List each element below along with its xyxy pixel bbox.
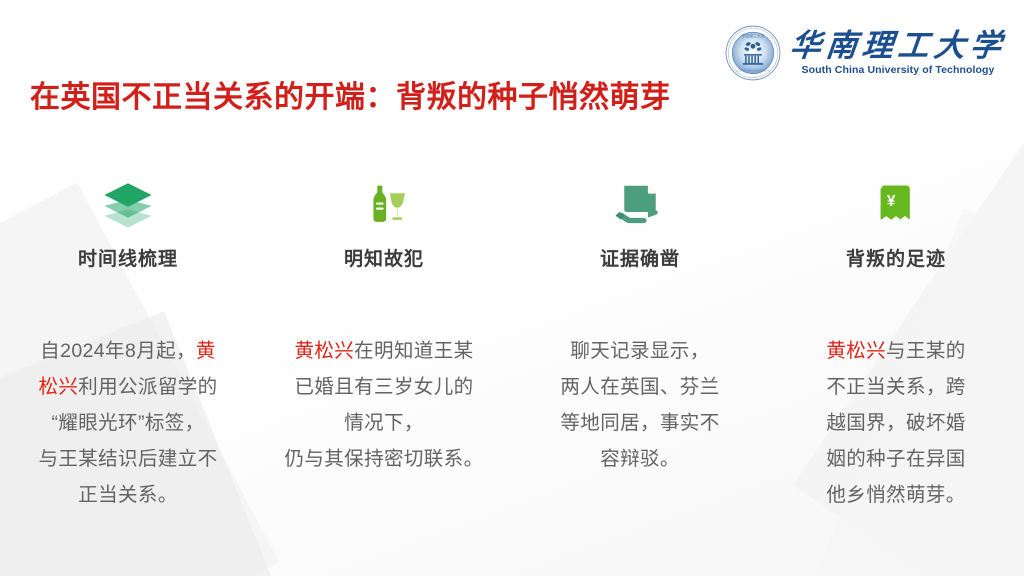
column-betrayal-trace: ¥ 背叛的足迹 黄松兴与王某的不正当关系，跨越国界，破坏婚姻的种子在异国他乡悄然…	[768, 172, 1024, 513]
body-text-run: 自2024年8月起，	[40, 340, 196, 362]
svg-text:SOUTH CHINA UNIV OF TECH: SOUTH CHINA UNIV OF TECH	[736, 69, 769, 72]
body-text-run: “耀眼光环”标签，	[51, 412, 204, 434]
body-line: 不正当关系，跨	[789, 369, 1004, 405]
yuan-receipt-icon: ¥	[870, 172, 922, 238]
body-line: “耀眼光环”标签，	[21, 405, 236, 441]
body-text-run: 利用公派留学的	[78, 376, 217, 398]
body-line: 等地同居，事实不	[533, 405, 748, 441]
university-name-chinese: 华南理工大学	[788, 30, 1007, 63]
content-columns: 时间线梳理 自2024年8月起，黄松兴利用公派留学的“耀眼光环”标签，与王某结识…	[0, 172, 1024, 513]
column-heading: 背叛的足迹	[846, 244, 946, 271]
svg-text:¥: ¥	[887, 193, 896, 210]
body-text-run: 聊天记录显示，	[570, 340, 709, 362]
body-line: 松兴利用公派留学的	[21, 369, 236, 405]
column-heading: 明知故犯	[344, 244, 424, 271]
column-body-text: 黄松兴在明知道王某已婚且有三岁女儿的情况下，仍与其保持密切联系。	[277, 333, 492, 477]
body-text-run: 情况下，	[344, 412, 424, 434]
hand-holding-document-icon	[612, 172, 668, 238]
body-line: 自2024年8月起，黄	[21, 333, 236, 369]
body-line: 仍与其保持密切联系。	[277, 441, 492, 477]
body-text-run: 两人在英国、芬兰	[560, 376, 719, 398]
body-line: 两人在英国、芬兰	[533, 369, 748, 405]
highlighted-name: 黄松兴	[826, 340, 886, 362]
body-text-run: 他乡悄然萌芽。	[826, 484, 965, 506]
scut-university-seal-icon: 华南理工大学 SOUTH CHINA UNIV OF TECH	[725, 25, 781, 81]
body-line: 聊天记录显示，	[533, 333, 748, 369]
body-text-run: 不正当关系，跨	[826, 376, 965, 398]
slide-canvas: 在英国不正当关系的开端：背叛的种子悄然萌芽	[0, 0, 1024, 576]
slide-title: 在英国不正当关系的开端：背叛的种子悄然萌芽	[30, 80, 671, 116]
wine-bottle-and-glass-icon	[357, 172, 411, 238]
body-text-run: 已婚且有三岁女儿的	[294, 376, 473, 398]
body-line: 容辩驳。	[533, 441, 748, 477]
body-text-run: 仍与其保持密切联系。	[284, 448, 483, 470]
body-line: 黄松兴与王某的	[789, 333, 1004, 369]
body-line: 正当关系。	[21, 477, 236, 513]
body-line: 黄松兴在明知道王某	[277, 333, 492, 369]
svg-text:华南理工大学: 华南理工大学	[741, 33, 765, 38]
highlighted-name: 黄	[196, 340, 216, 362]
layers-stack-icon	[99, 172, 157, 238]
body-text-run: 姻的种子在异国	[826, 448, 965, 470]
university-logo: 华南理工大学 SOUTH CHINA UNIV OF TECH 华南理工大学 S…	[725, 22, 1006, 84]
body-text-run: 正当关系。	[78, 484, 178, 506]
body-text-run: 越国界，破坏婚	[826, 412, 965, 434]
column-evidence: 证据确凿 聊天记录显示，两人在英国、芬兰等地同居，事实不容辩驳。	[512, 172, 768, 513]
body-text-run: 等地同居，事实不	[560, 412, 719, 434]
body-line: 他乡悄然萌芽。	[789, 477, 1004, 513]
column-heading: 时间线梳理	[78, 244, 178, 271]
body-line: 姻的种子在异国	[789, 441, 1004, 477]
body-line: 情况下，	[277, 405, 492, 441]
highlighted-name: 松兴	[38, 376, 78, 398]
body-text-run: 容辩驳。	[600, 448, 680, 470]
column-knowing-violation: 明知故犯 黄松兴在明知道王某已婚且有三岁女儿的情况下，仍与其保持密切联系。	[256, 172, 512, 513]
body-text-run: 与王某的	[886, 340, 966, 362]
column-heading: 证据确凿	[600, 244, 680, 271]
body-line: 已婚且有三岁女儿的	[277, 369, 492, 405]
column-body-text: 自2024年8月起，黄松兴利用公派留学的“耀眼光环”标签，与王某结识后建立不正当…	[21, 333, 236, 513]
body-line: 与王某结识后建立不	[21, 441, 236, 477]
university-name-english: South China University of Technology	[802, 64, 995, 76]
body-text-run: 在明知道王某	[354, 340, 473, 362]
column-timeline: 时间线梳理 自2024年8月起，黄松兴利用公派留学的“耀眼光环”标签，与王某结识…	[0, 172, 256, 513]
body-line: 越国界，破坏婚	[789, 405, 1004, 441]
column-body-text: 聊天记录显示，两人在英国、芬兰等地同居，事实不容辩驳。	[533, 333, 748, 477]
highlighted-name: 黄松兴	[294, 340, 354, 362]
university-wordmark: 华南理工大学 South China University of Technol…	[790, 30, 1006, 77]
body-text-run: 与王某结识后建立不	[38, 448, 217, 470]
column-body-text: 黄松兴与王某的不正当关系，跨越国界，破坏婚姻的种子在异国他乡悄然萌芽。	[789, 333, 1004, 513]
